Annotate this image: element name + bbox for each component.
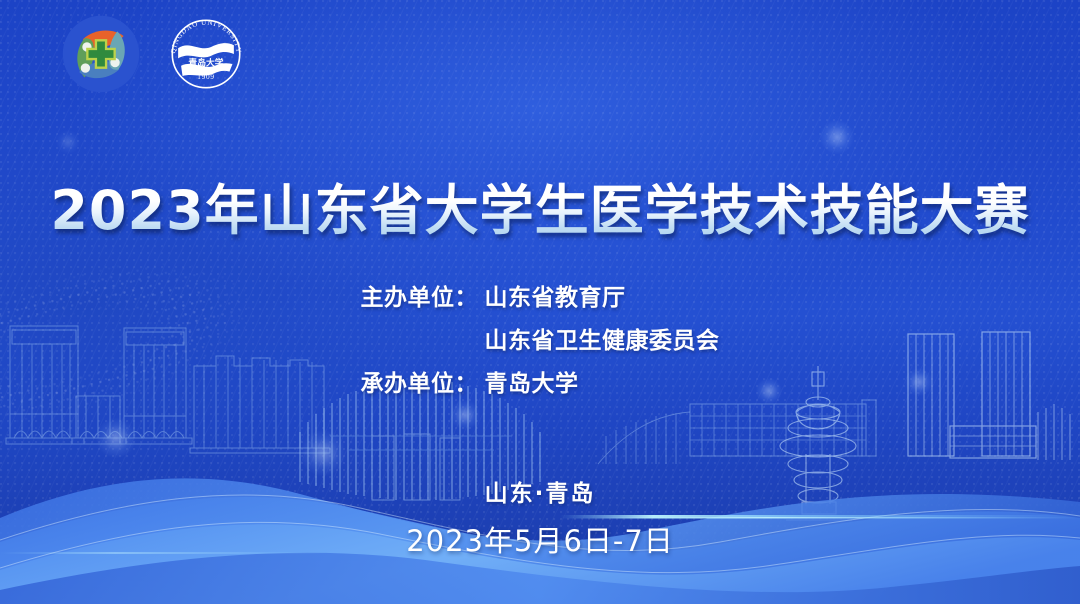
bokeh-glow-1 — [820, 120, 854, 154]
event-poster: QINGDAO UNIVERSITY 青岛大学 1909 2023年山东省大学生… — [0, 0, 1080, 604]
bokeh-glow-2 — [300, 430, 346, 476]
poster-title: 2023年山东省大学生医学技术技能大赛 — [0, 179, 1080, 243]
organizers-block: 主办单位： 山东省教育厅 山东省卫生健康委员会 承办单位： 青岛大学 — [0, 278, 1080, 398]
organizer-value: 山东省教育厅 — [485, 278, 626, 312]
organizer-row: 承办单位： 青岛大学 — [361, 364, 720, 398]
event-date: 2023年5月6日-7日 — [0, 518, 1080, 560]
header-logos: QINGDAO UNIVERSITY 青岛大学 1909 — [62, 10, 250, 98]
footer-block: 山东·青岛 2023年5月6日-7日 — [0, 474, 1080, 560]
bokeh-glow-7 — [56, 130, 80, 154]
organizer-value: 山东省卫生健康委员会 — [485, 321, 720, 355]
event-location: 山东·青岛 — [0, 474, 1080, 508]
organizer-value: 青岛大学 — [485, 364, 579, 398]
svg-text:1909: 1909 — [197, 72, 215, 81]
competition-emblem-icon — [62, 15, 140, 93]
svg-text:青岛大学: 青岛大学 — [188, 57, 223, 68]
organizer-label: 主办单位： — [361, 278, 485, 312]
organizer-label: 承办单位： — [361, 364, 485, 398]
bokeh-glow-4 — [96, 418, 136, 458]
qingdao-university-emblem-icon: QINGDAO UNIVERSITY 青岛大学 1909 — [162, 10, 250, 98]
organizer-row: 主办单位： 山东省教育厅 — [361, 278, 720, 312]
bokeh-glow-5 — [450, 400, 480, 430]
organizer-row: 山东省卫生健康委员会 — [361, 321, 720, 355]
